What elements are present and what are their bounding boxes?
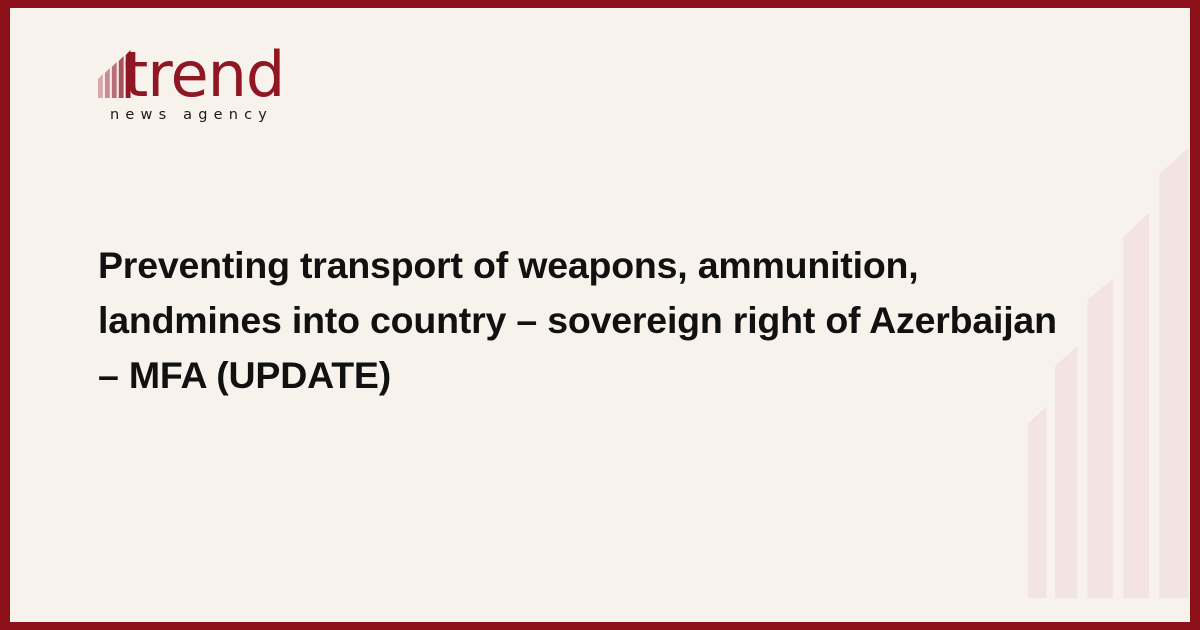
- logo-mark-bar-4: [119, 56, 124, 98]
- trend-news-agency-logo[interactable]: trend news agency: [98, 44, 358, 136]
- logo-mark-bar-1: [98, 74, 103, 98]
- decor-bar-3: [1088, 278, 1114, 598]
- decor-bar-1: [1028, 406, 1047, 598]
- headline-line-3: – MFA (UPDATE): [98, 348, 1088, 403]
- headline-line-1: Preventing transport of weapons, ammunit…: [98, 238, 1088, 293]
- news-share-card: trend news agency Preventing transport o…: [0, 0, 1200, 630]
- card-canvas: trend news agency Preventing transport o…: [10, 8, 1190, 622]
- decor-bar-5: [1159, 148, 1188, 598]
- decor-bar-4: [1123, 213, 1149, 598]
- headline-line-2: landmines into country – sovereign right…: [98, 293, 1088, 348]
- headline: Preventing transport of weapons, ammunit…: [98, 238, 1088, 403]
- logo-mark-bar-3: [112, 62, 117, 98]
- logo-wordmark: trend: [124, 44, 284, 106]
- logo-mark-bar-2: [105, 68, 110, 98]
- logo-subtitle: news agency: [110, 106, 273, 124]
